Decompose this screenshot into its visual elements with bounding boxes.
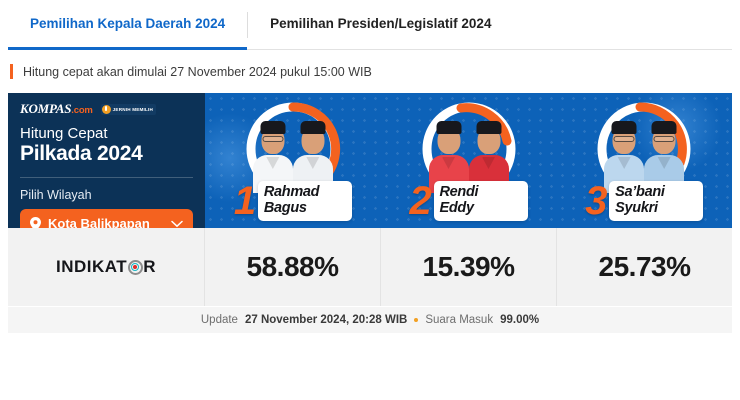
region-select-label: Pilih Wilayah xyxy=(20,188,193,202)
person-collar xyxy=(658,157,671,169)
results-row: INDIKATR 58.88% 15.39% 25.73% xyxy=(8,228,732,306)
candidate-card-1[interactable]: 1 Rahmad Bagus xyxy=(205,93,381,228)
candidate-name-line2: Bagus xyxy=(264,201,342,217)
person-collar xyxy=(266,157,279,169)
person-collar xyxy=(442,157,455,169)
person-peci xyxy=(612,121,637,134)
tab-pilkada[interactable]: Pemilihan Kepala Daerah 2024 xyxy=(8,0,247,50)
person-peci xyxy=(436,121,461,134)
banner-right-panel: 1 Rahmad Bagus xyxy=(205,93,732,228)
result-cell-candidate-2: 15.39% xyxy=(381,228,557,306)
candidate-card-2[interactable]: 2 Rendi Eddy xyxy=(381,93,557,228)
candidate-name-plate-3: Sa’bani Syukri xyxy=(609,181,703,221)
candidate-name-line1: Rahmad xyxy=(264,185,342,201)
tab-pilpres-legislatif-label: Pemilihan Presiden/Legislatif 2024 xyxy=(270,16,491,31)
candidate-name-plate-1: Rahmad Bagus xyxy=(258,181,352,221)
candidate-name-line2: Syukri xyxy=(615,201,693,217)
result-percent-3: 25.73% xyxy=(599,251,691,283)
candidate-card-3[interactable]: 3 Sa’bani Syukri xyxy=(556,93,732,228)
notice-text: Hitung cepat akan dimulai 27 November 20… xyxy=(23,65,372,79)
brand-row: KOMPAS.com JERNIH MEMILIH xyxy=(20,102,193,116)
target-icon xyxy=(128,260,143,275)
result-percent-1: 58.88% xyxy=(247,251,339,283)
tab-pilpres-legislatif[interactable]: Pemilihan Presiden/Legislatif 2024 xyxy=(248,0,513,50)
jernih-memilih-label: JERNIH MEMILIH xyxy=(113,107,153,112)
candidate-number-3: 3 xyxy=(585,181,611,221)
region-select-value: Kota Balikpapan xyxy=(48,216,164,228)
person-glasses xyxy=(262,136,283,142)
candidate-nameplate-3: 3 Sa’bani Syukri xyxy=(585,181,703,221)
candidate-list: 1 Rahmad Bagus xyxy=(205,93,732,228)
location-pin-icon xyxy=(30,217,41,228)
banner-title-small: Hitung Cepat xyxy=(20,125,193,142)
banner-left-panel: KOMPAS.com JERNIH MEMILIH Hitung Cepat P… xyxy=(8,93,205,228)
indikator-logo: INDIKATR xyxy=(56,257,156,277)
update-timestamp: 27 November 2024, 20:28 WIB xyxy=(245,314,407,326)
separator-dot-icon xyxy=(414,318,418,322)
votes-label: Suara Masuk xyxy=(425,314,493,326)
person-peci xyxy=(300,121,325,134)
result-cell-candidate-3: 25.73% xyxy=(557,228,732,306)
candidate-number-1: 1 xyxy=(234,181,260,221)
person-collar xyxy=(482,157,495,169)
tab-pilkada-label: Pemilihan Kepala Daerah 2024 xyxy=(30,16,225,31)
banner-divider xyxy=(20,177,193,178)
candidate-nameplate-2: 2 Rendi Eddy xyxy=(410,181,528,221)
region-select-dropdown[interactable]: Kota Balikpapan xyxy=(20,209,193,228)
kompas-logo: KOMPAS.com xyxy=(20,101,93,117)
indikator-logo-text: INDIKAT xyxy=(56,257,127,277)
person-glasses xyxy=(614,136,635,142)
kompas-logo-suffix: .com xyxy=(71,105,92,116)
pollster-cell: INDIKATR xyxy=(8,228,205,306)
person-peci xyxy=(652,121,677,134)
person-peci xyxy=(476,121,501,134)
person-peci xyxy=(260,121,285,134)
quickcount-banner: KOMPAS.com JERNIH MEMILIH Hitung Cepat P… xyxy=(8,93,732,228)
candidate-nameplate-1: 1 Rahmad Bagus xyxy=(234,181,352,221)
results-footer: Update 27 November 2024, 20:28 WIB Suara… xyxy=(8,307,732,333)
candidate-name-line1: Rendi xyxy=(440,185,518,201)
result-cell-candidate-1: 58.88% xyxy=(205,228,381,306)
notice-accent xyxy=(10,64,13,79)
person-glasses xyxy=(654,136,675,142)
jernih-memilih-badge: JERNIH MEMILIH xyxy=(101,104,156,115)
kompas-logo-name: KOMPAS xyxy=(20,101,71,116)
notice-bar: Hitung cepat akan dimulai 27 November 20… xyxy=(0,50,740,93)
votes-percent: 99.00% xyxy=(500,314,539,326)
candidate-name-line1: Sa’bani xyxy=(615,185,693,201)
result-percent-2: 15.39% xyxy=(423,251,515,283)
candidate-name-line2: Eddy xyxy=(440,201,518,217)
person-collar xyxy=(306,157,319,169)
banner-title-big: Pilkada 2024 xyxy=(20,142,193,166)
chevron-down-icon xyxy=(171,220,183,228)
candidate-name-plate-2: Rendi Eddy xyxy=(434,181,528,221)
indikator-logo-text-end: R xyxy=(143,257,156,277)
update-label: Update xyxy=(201,314,238,326)
person-collar xyxy=(618,157,631,169)
jernih-memilih-icon xyxy=(102,105,111,114)
candidate-number-2: 2 xyxy=(410,181,436,221)
tab-bar: Pemilihan Kepala Daerah 2024 Pemilihan P… xyxy=(0,0,740,50)
